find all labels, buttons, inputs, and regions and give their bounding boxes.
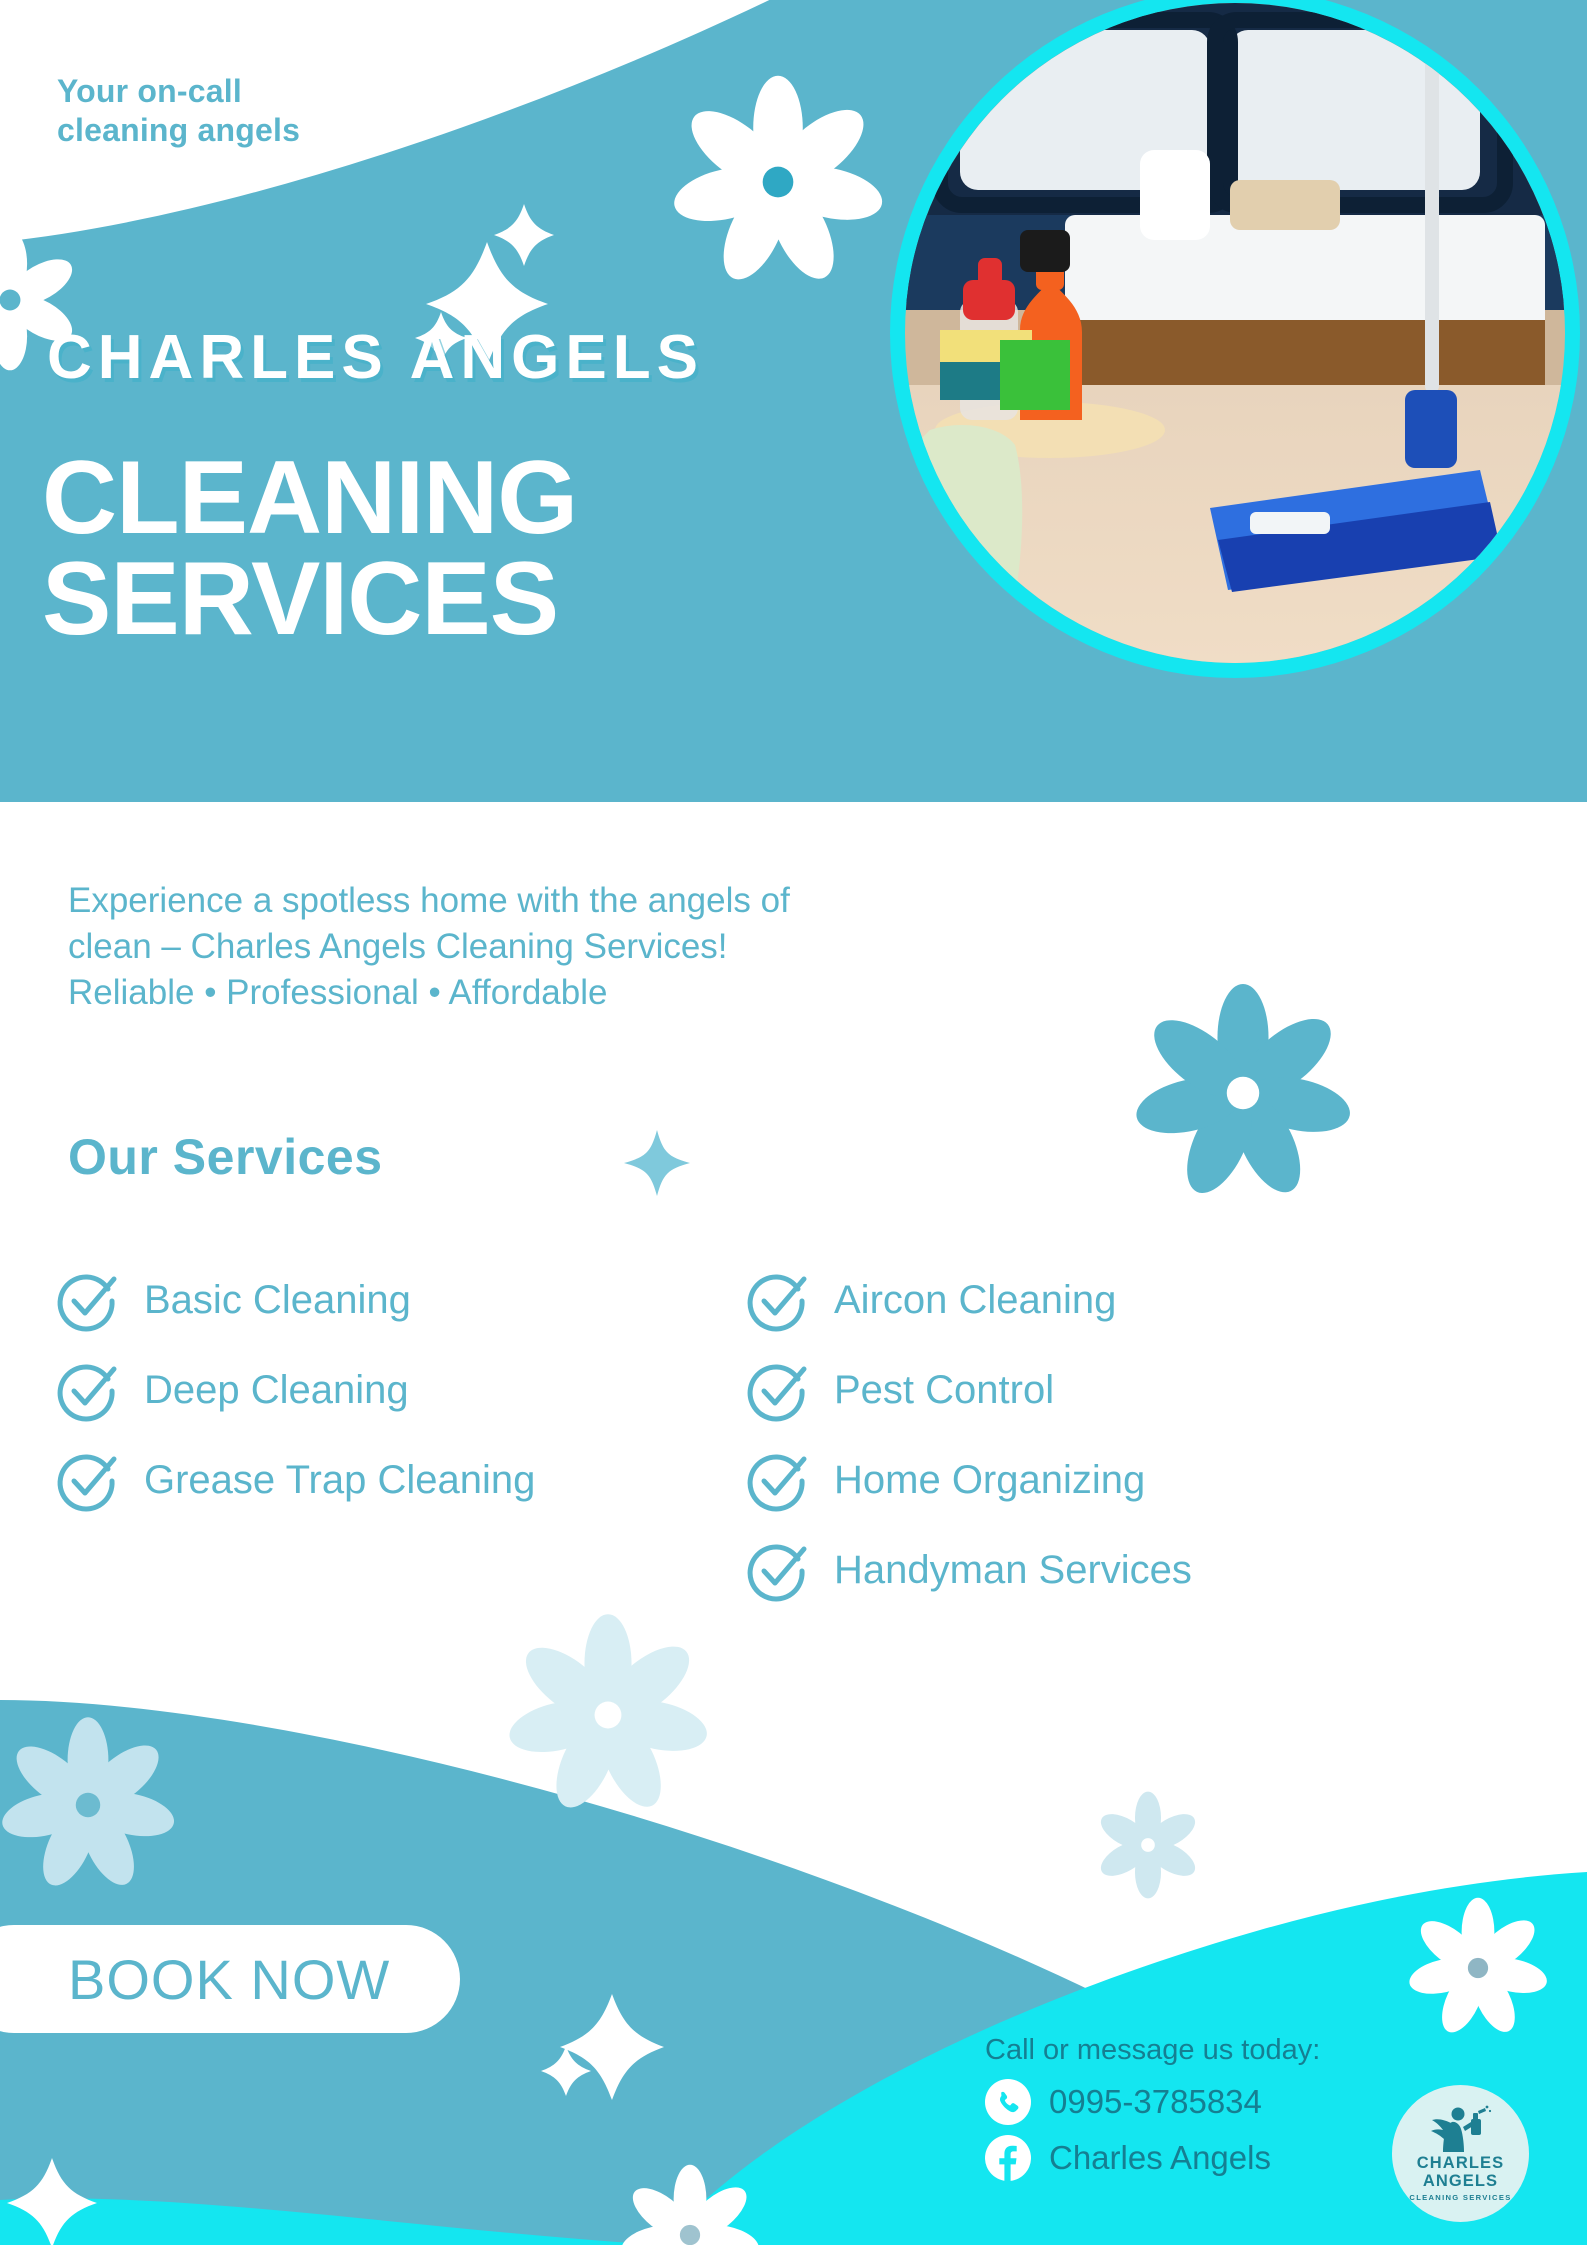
logo-badge: CHARLES ANGELS CLEANING SERVICES — [1392, 2085, 1529, 2222]
book-now-label: BOOK NOW — [68, 1947, 390, 2012]
contact-phone-row[interactable]: 0995-3785834 — [985, 2079, 1405, 2125]
logo-line-2: ANGELS — [1423, 2173, 1498, 2191]
service-item-aircon-cleaning[interactable]: Aircon Cleaning — [742, 1255, 1432, 1345]
service-label: Deep Cleaning — [144, 1368, 409, 1413]
service-label: Aircon Cleaning — [834, 1278, 1116, 1323]
facebook-name: Charles Angels — [1049, 2139, 1271, 2177]
check-circle-icon — [742, 1265, 812, 1335]
logo-line-3: CLEANING SERVICES — [1409, 2193, 1511, 2202]
intro-paragraph: Experience a spotless home with the ange… — [68, 878, 1078, 1017]
service-item-spacer — [52, 1525, 742, 1615]
contact-block: Call or message us today: 0995-3785834 C… — [985, 2034, 1405, 2181]
contact-facebook-row[interactable]: Charles Angels — [985, 2135, 1405, 2181]
tagline-line-1: Your on-call — [57, 72, 477, 111]
tagline-line-2: cleaning angels — [57, 111, 477, 150]
check-circle-icon — [742, 1445, 812, 1515]
flower-decor-left-wave — [0, 1717, 178, 1893]
service-item-grease-trap-cleaning[interactable]: Grease Trap Cleaning — [52, 1435, 742, 1525]
tagline: Your on-call cleaning angels — [57, 72, 477, 150]
check-circle-icon — [52, 1355, 122, 1425]
intro-line-3: Reliable • Professional • Affordable — [68, 970, 1078, 1016]
book-now-button[interactable]: BOOK NOW — [0, 1925, 460, 2033]
headline-line-1: CLEANING — [42, 448, 577, 549]
check-circle-icon — [52, 1265, 122, 1335]
service-item-basic-cleaning[interactable]: Basic Cleaning — [52, 1255, 742, 1345]
service-label: Pest Control — [834, 1368, 1054, 1413]
flower-decor-small-right — [1095, 1792, 1200, 1899]
services-list: Basic Cleaning Aircon Cleaning Deep Clea… — [52, 1255, 1472, 1615]
facebook-icon — [985, 2135, 1031, 2181]
service-label: Grease Trap Cleaning — [144, 1458, 535, 1503]
flower-decor-center-low — [504, 1614, 711, 1816]
flower-decor-bottom-right — [1406, 1898, 1550, 2039]
check-circle-icon — [742, 1535, 812, 1605]
service-item-pest-control[interactable]: Pest Control — [742, 1345, 1432, 1435]
service-item-home-organizing[interactable]: Home Organizing — [742, 1435, 1432, 1525]
check-circle-icon — [52, 1445, 122, 1515]
brand-name: CHARLES ANGELS — [47, 322, 704, 393]
photo-image — [905, 3, 1565, 665]
intro-line-1: Experience a spotless home with the ange… — [68, 878, 1078, 924]
check-circle-icon — [742, 1355, 812, 1425]
logo-line-1: CHARLES — [1417, 2155, 1504, 2173]
flower-decor-mid-right — [1131, 984, 1355, 1203]
service-item-deep-cleaning[interactable]: Deep Cleaning — [52, 1345, 742, 1435]
angel-with-spray-bottle-icon — [1430, 2105, 1492, 2153]
flower-decor-bottom-center — [618, 2165, 762, 2245]
service-label: Home Organizing — [834, 1458, 1145, 1503]
service-label: Basic Cleaning — [144, 1278, 411, 1323]
contact-heading: Call or message us today: — [985, 2034, 1405, 2067]
intro-line-2: clean – Charles Angels Cleaning Services… — [68, 924, 1078, 970]
phone-number: 0995-3785834 — [1049, 2083, 1262, 2121]
headline-line-2: SERVICES — [42, 549, 577, 650]
poster-canvas: Your on-call cleaning angels CHARLES ANG… — [0, 0, 1587, 2245]
phone-icon — [985, 2079, 1031, 2125]
service-label: Handyman Services — [834, 1548, 1192, 1593]
page-title: CLEANING SERVICES — [42, 448, 577, 650]
service-item-handyman-services[interactable]: Handyman Services — [742, 1525, 1432, 1615]
sparkle-icon — [612, 1118, 702, 1208]
bottom-cyan-left — [0, 2198, 660, 2245]
services-heading: Our Services — [68, 1128, 383, 1186]
flower-decor-top — [669, 76, 887, 289]
photo-ring — [890, 0, 1580, 678]
